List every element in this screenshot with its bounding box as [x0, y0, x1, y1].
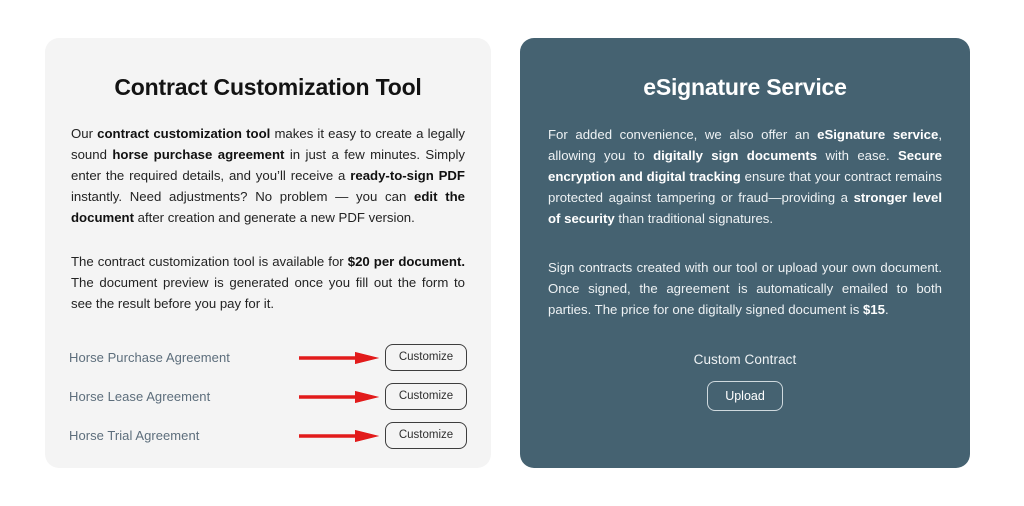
- sidebar-item-horse-lease-agreement[interactable]: Horse Lease Agreement: [69, 389, 299, 404]
- page-title: Contract Customization Tool: [69, 38, 467, 101]
- customize-button-trial[interactable]: Customize: [385, 422, 467, 449]
- agreement-list: Horse Purchase Agreement Customize Horse…: [69, 338, 467, 455]
- customize-button-lease[interactable]: Customize: [385, 383, 467, 410]
- contract-customization-panel: Contract Customization Tool Our contract…: [45, 38, 491, 468]
- esignature-service-panel: eSignature Service For added convenience…: [520, 38, 970, 468]
- red-arrow-right-icon: [299, 425, 385, 447]
- right-paragraph-2: Sign contracts created with our tool or …: [548, 257, 942, 320]
- left-paragraph-2: The contract customization tool is avail…: [69, 251, 467, 314]
- custom-contract-label: Custom Contract: [548, 352, 942, 367]
- list-item: Horse Trial Agreement Customize: [69, 416, 467, 455]
- sidebar-item-horse-trial-agreement[interactable]: Horse Trial Agreement: [69, 428, 299, 443]
- page-root: Contract Customization Tool Our contract…: [0, 0, 1024, 506]
- red-arrow-right-icon: [299, 347, 385, 369]
- customize-button-purchase[interactable]: Customize: [385, 344, 467, 371]
- custom-contract-block: Custom Contract Upload: [548, 352, 942, 411]
- list-item: Horse Purchase Agreement Customize: [69, 338, 467, 377]
- left-paragraph-1: Our contract customization tool makes it…: [69, 123, 467, 228]
- list-item: Horse Lease Agreement Customize: [69, 377, 467, 416]
- sidebar-item-horse-purchase-agreement[interactable]: Horse Purchase Agreement: [69, 350, 299, 365]
- red-arrow-right-icon: [299, 386, 385, 408]
- upload-button[interactable]: Upload: [707, 381, 783, 411]
- esignature-title: eSignature Service: [548, 38, 942, 101]
- right-paragraph-1: For added convenience, we also offer an …: [548, 124, 942, 229]
